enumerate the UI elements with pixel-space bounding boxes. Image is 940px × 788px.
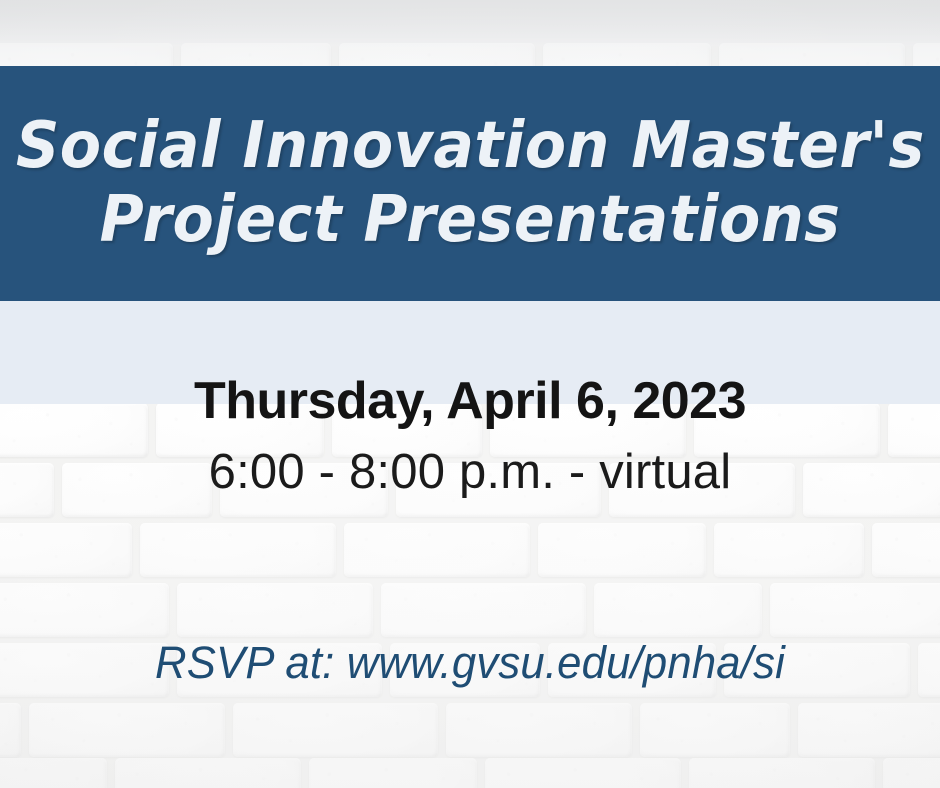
event-details: Thursday, April 6, 2023 6:00 - 8:00 p.m.… — [0, 372, 940, 500]
event-flyer: Social Innovation Master's Project Prese… — [0, 0, 940, 788]
rsvp-link-text[interactable]: RSVP at: www.gvsu.edu/pnha/si — [14, 636, 926, 690]
title-line-2: Project Presentations — [100, 188, 841, 253]
title-banner: Social Innovation Master's Project Prese… — [0, 66, 940, 301]
title-line-1: Social Innovation Master's — [16, 114, 925, 179]
event-date: Thursday, April 6, 2023 — [0, 372, 940, 430]
event-time-and-format: 6:00 - 8:00 p.m. - virtual — [0, 444, 940, 500]
